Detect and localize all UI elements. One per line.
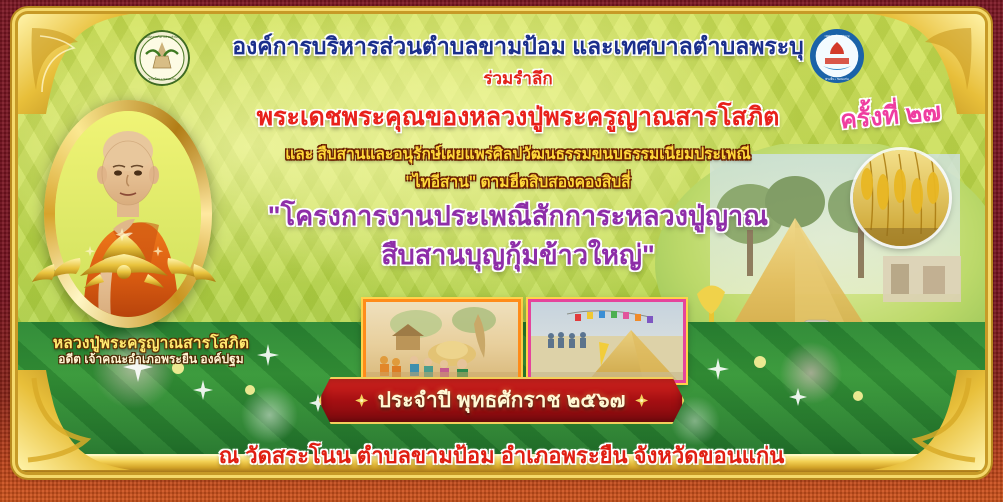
- venue-line: ณ วัดสระโนน ตำบลขามป้อม อำเภอพระยืน จังห…: [18, 438, 985, 472]
- commemorate-line: ร่วมรำลึก: [178, 65, 858, 92]
- headline-block: องค์การบริหารส่วนตำบลขามป้อม และเทศบาลตำ…: [178, 34, 858, 271]
- svg-text:องค์การบริหารส่วนตำบล: องค์การบริหารส่วนตำบล: [145, 35, 179, 39]
- svg-text:ขามป้อม • ขอนแก่น: ขามป้อม • ขอนแก่น: [148, 77, 176, 81]
- year-plate-text: ประจำปี พุทธศักราช ๒๕๖๗: [378, 384, 626, 417]
- rice-stalks-inset-photo: [853, 150, 949, 246]
- event-banner: องค์การบริหารส่วนตำบล ขามป้อม • ขอนแก่น …: [0, 0, 1003, 502]
- purpose-line-2: "ไทอีสาน" ตามฮีตสิบสองคองสิบสี่: [178, 174, 858, 193]
- honoree-line: พระเดชพระคุณของหลวงปู่พระครูญาณสารโสภิต: [178, 97, 858, 137]
- rosette-right-icon: [635, 394, 648, 407]
- organizations-line: องค์การบริหารส่วนตำบลขามป้อม และเทศบาลตำ…: [178, 34, 858, 59]
- rice-festival-illustration: [531, 302, 683, 380]
- photo-mural-village: [363, 299, 521, 383]
- project-line-2: สืบสานบุญกุ้มข้าวใหญ่": [178, 240, 858, 271]
- photo-rice-festival: [528, 299, 686, 383]
- mural-village-illustration: [366, 302, 518, 380]
- portrait-title-label: อดีต เจ้าคณะอำเภอพระยืน องค์ปฐม: [26, 350, 276, 369]
- rosette-left-icon: [355, 394, 368, 407]
- year-plate: ประจำปี พุทธศักราช ๒๕๖๗: [319, 377, 685, 424]
- purpose-line-1: และ สืบสานและอนุรักษ์เผยแพร่ศิลปวัฒนธรรม…: [178, 146, 858, 165]
- project-line-1: "โครงการงานประเพณีสักการะหลวงปู่ญาณ: [178, 201, 858, 232]
- banner-stage: องค์การบริหารส่วนตำบล ขามป้อม • ขอนแก่น …: [18, 14, 985, 472]
